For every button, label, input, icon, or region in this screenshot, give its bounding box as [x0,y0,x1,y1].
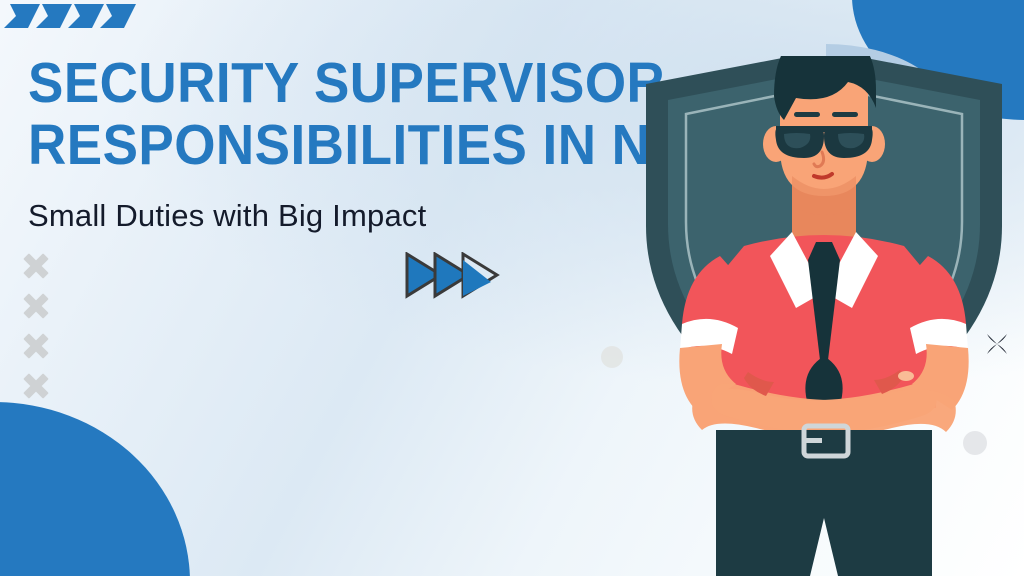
headline-line-1: SECURITY SUPERVISOR [28,52,679,114]
play-arrows-group [405,252,505,300]
headline-line-2: RESPONSIBILITIES IN NOIDA: [28,114,679,176]
banner-canvas: SECURITY SUPERVISOR RESPONSIBILITIES IN … [0,0,1024,576]
blob-bottom-left [0,402,190,576]
chevron-logo [4,4,154,32]
security-guard-illustration [624,56,1024,576]
subtitle: Small Duties with Big Impact [28,198,426,234]
trousers [716,426,932,576]
x-mark-icon [22,332,50,360]
x-mark-icon [22,372,50,400]
x-marks-group [22,252,50,412]
page-title: SECURITY SUPERVISOR RESPONSIBILITIES IN … [28,52,728,176]
x-mark-icon [22,292,50,320]
x-mark-icon [22,252,50,280]
decor-circle [601,346,623,368]
